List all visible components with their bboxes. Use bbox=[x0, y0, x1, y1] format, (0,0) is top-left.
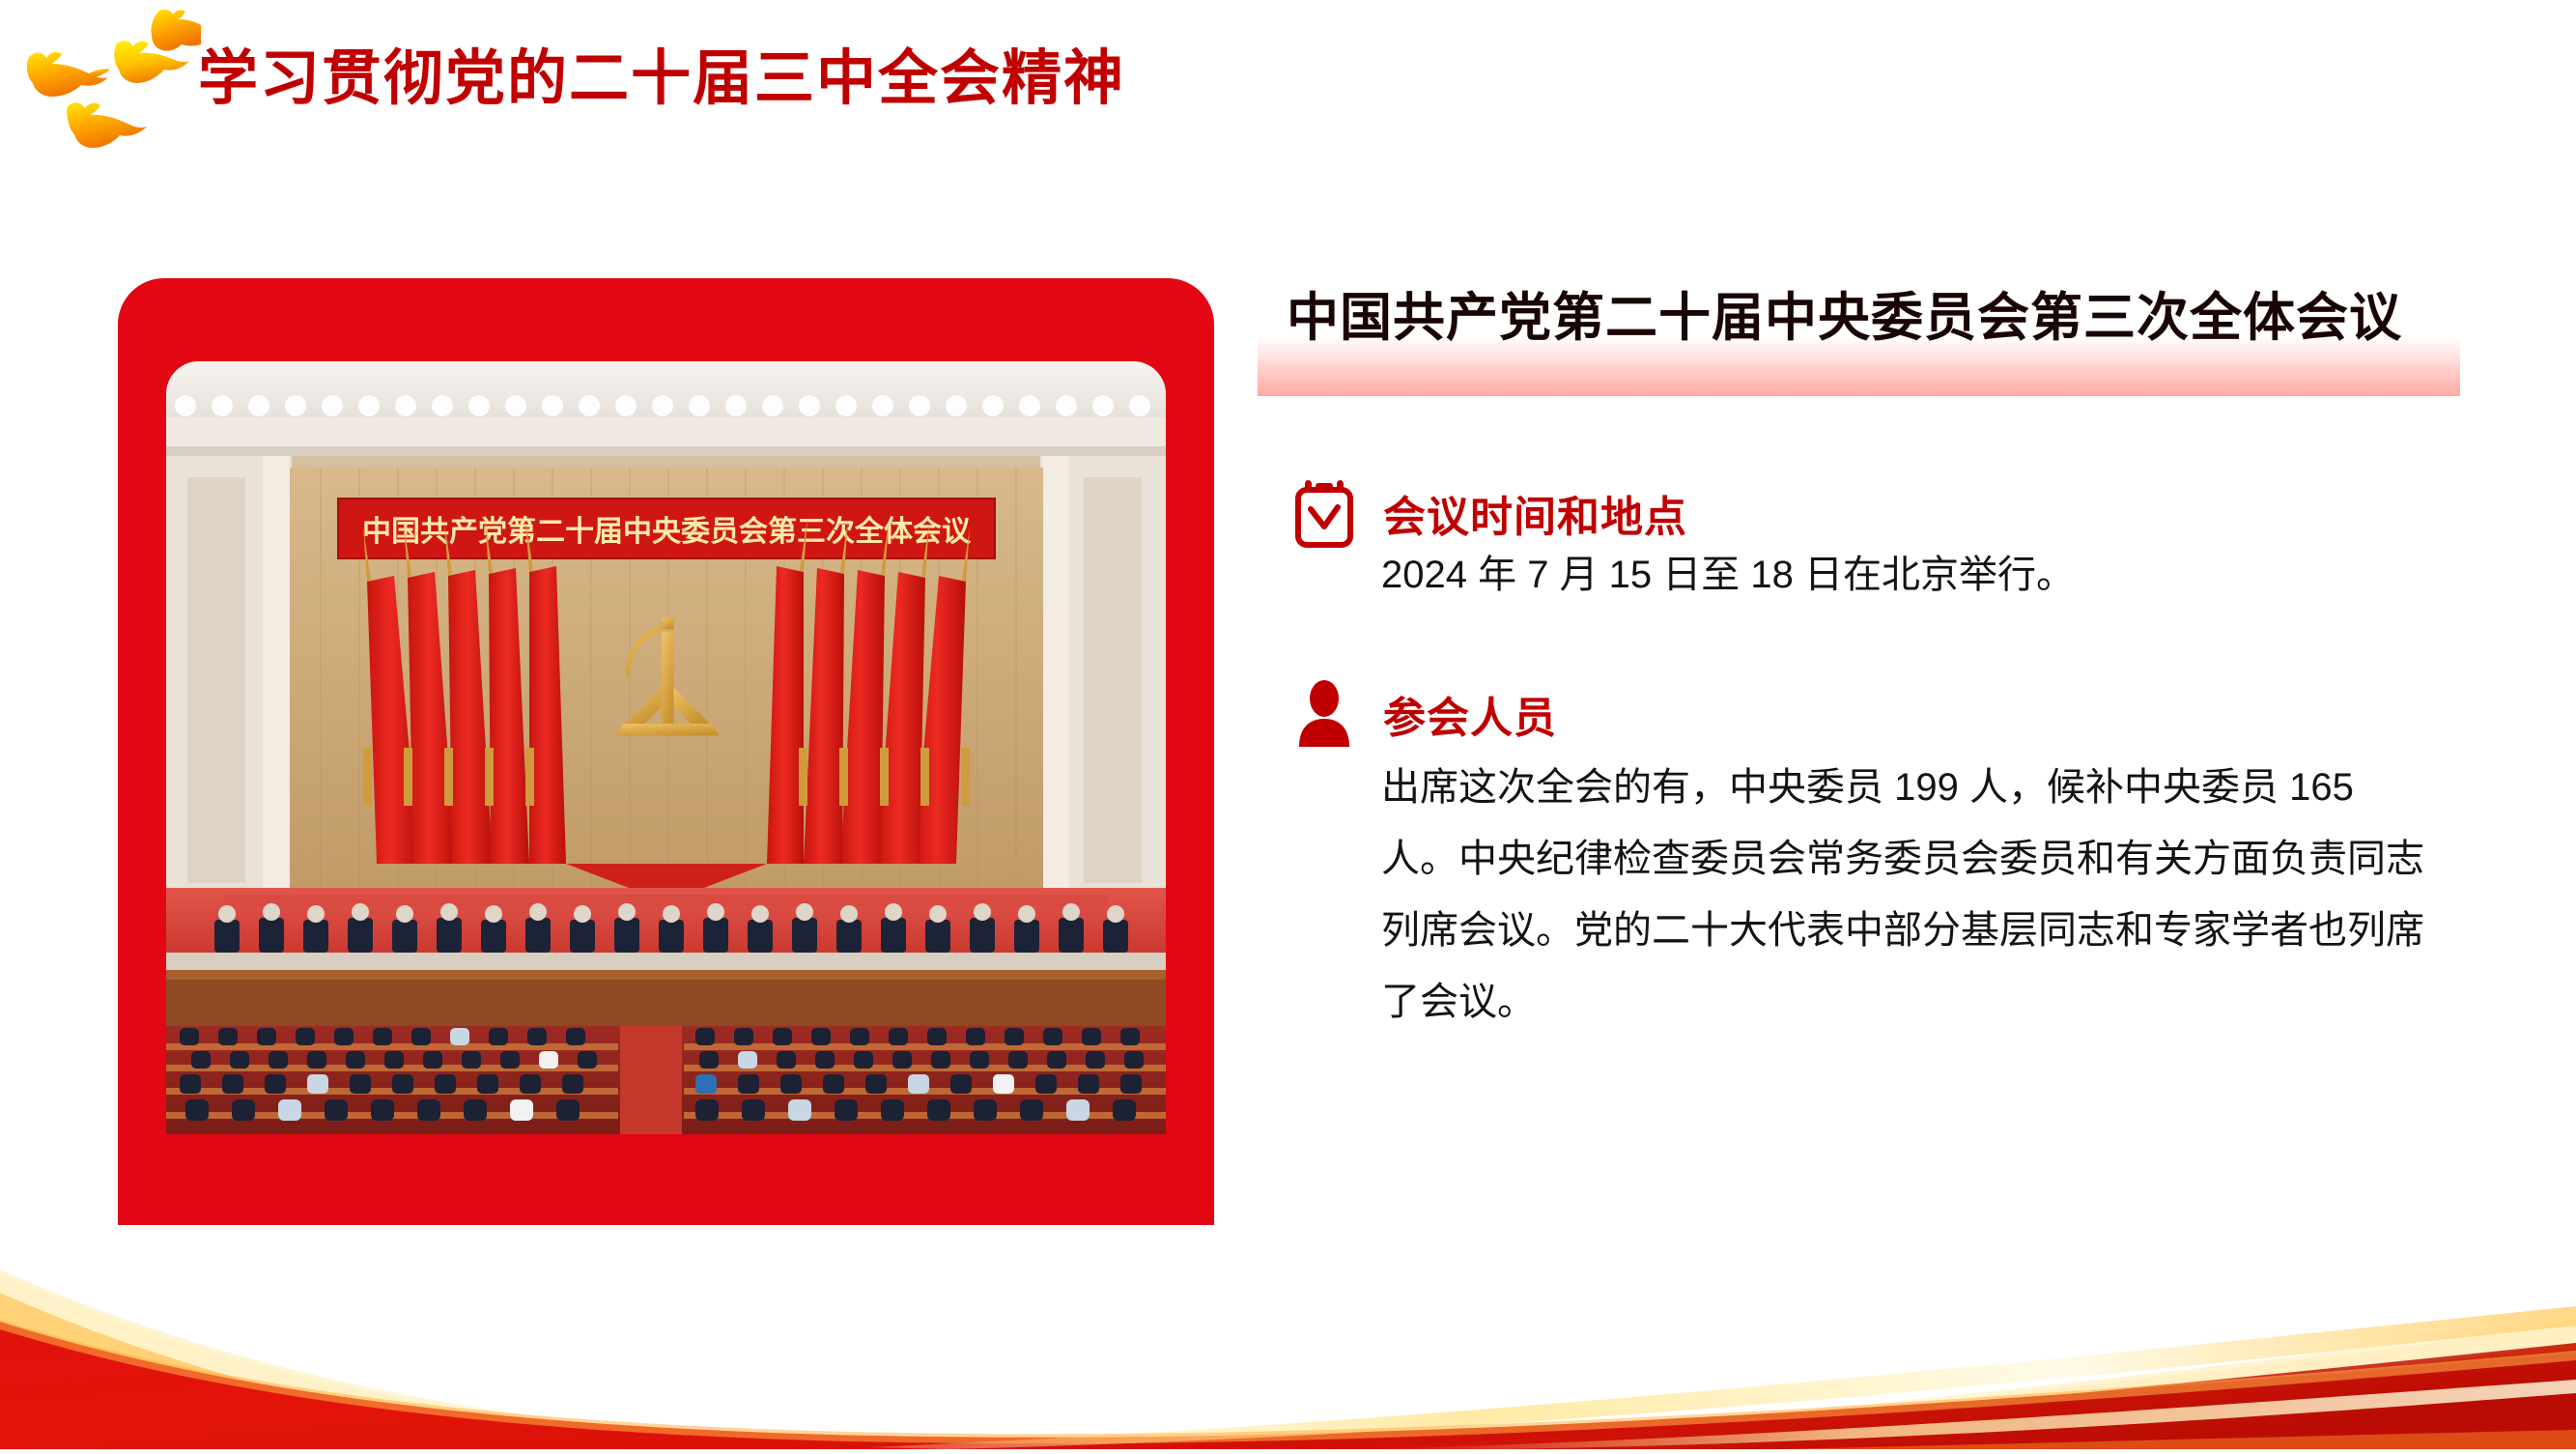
section-meeting-time: 会议时间和地点 2024 年 7 月 15 日至 18 日在北京举行。 bbox=[1288, 475, 2448, 600]
red-gold-ribbon-icon bbox=[0, 1198, 2576, 1449]
section-body-people: 出席这次全会的有，中央委员 199 人，候补中央委员 165 人。中央纪律检查委… bbox=[1381, 752, 2424, 1038]
section-body-time: 2024 年 7 月 15 日至 18 日在北京举行。 bbox=[1381, 551, 2424, 600]
plenary-session-hall-photo: 中国共产党第二十届中央委员会第三次全体会议 bbox=[166, 361, 1166, 1134]
calendar-check-icon bbox=[1288, 475, 1360, 551]
meeting-heading-band: 中国共产党第二十届中央委员会第三次全体会议 bbox=[1258, 271, 2460, 396]
section-header: 会议时间和地点 bbox=[1288, 475, 2448, 551]
section-attendees: 参会人员 出席这次全会的有，中央委员 199 人，候补中央委员 165 人。中央… bbox=[1288, 676, 2448, 1038]
meeting-heading: 中国共产党第二十届中央委员会第三次全体会议 bbox=[1287, 274, 2402, 351]
person-icon bbox=[1288, 676, 1360, 752]
photo-frame: 中国共产党第二十届中央委员会第三次全体会议 bbox=[118, 278, 1214, 1225]
flying-doves-icon bbox=[8, 4, 201, 178]
section-title-time: 会议时间和地点 bbox=[1383, 482, 1687, 544]
section-title-people: 参会人员 bbox=[1383, 683, 1557, 745]
content-column: 中国共产党第二十届中央委员会第三次全体会议 会议时间和地点 2024 年 7 月… bbox=[1258, 271, 2513, 396]
svg-text:中国共产党第二十届中央委员会第三次全体会议: 中国共产党第二十届中央委员会第三次全体会议 bbox=[362, 515, 972, 548]
section-header: 参会人员 bbox=[1288, 676, 2448, 752]
page-title: 学习贯彻党的二十届三中全会精神 bbox=[198, 46, 1125, 112]
